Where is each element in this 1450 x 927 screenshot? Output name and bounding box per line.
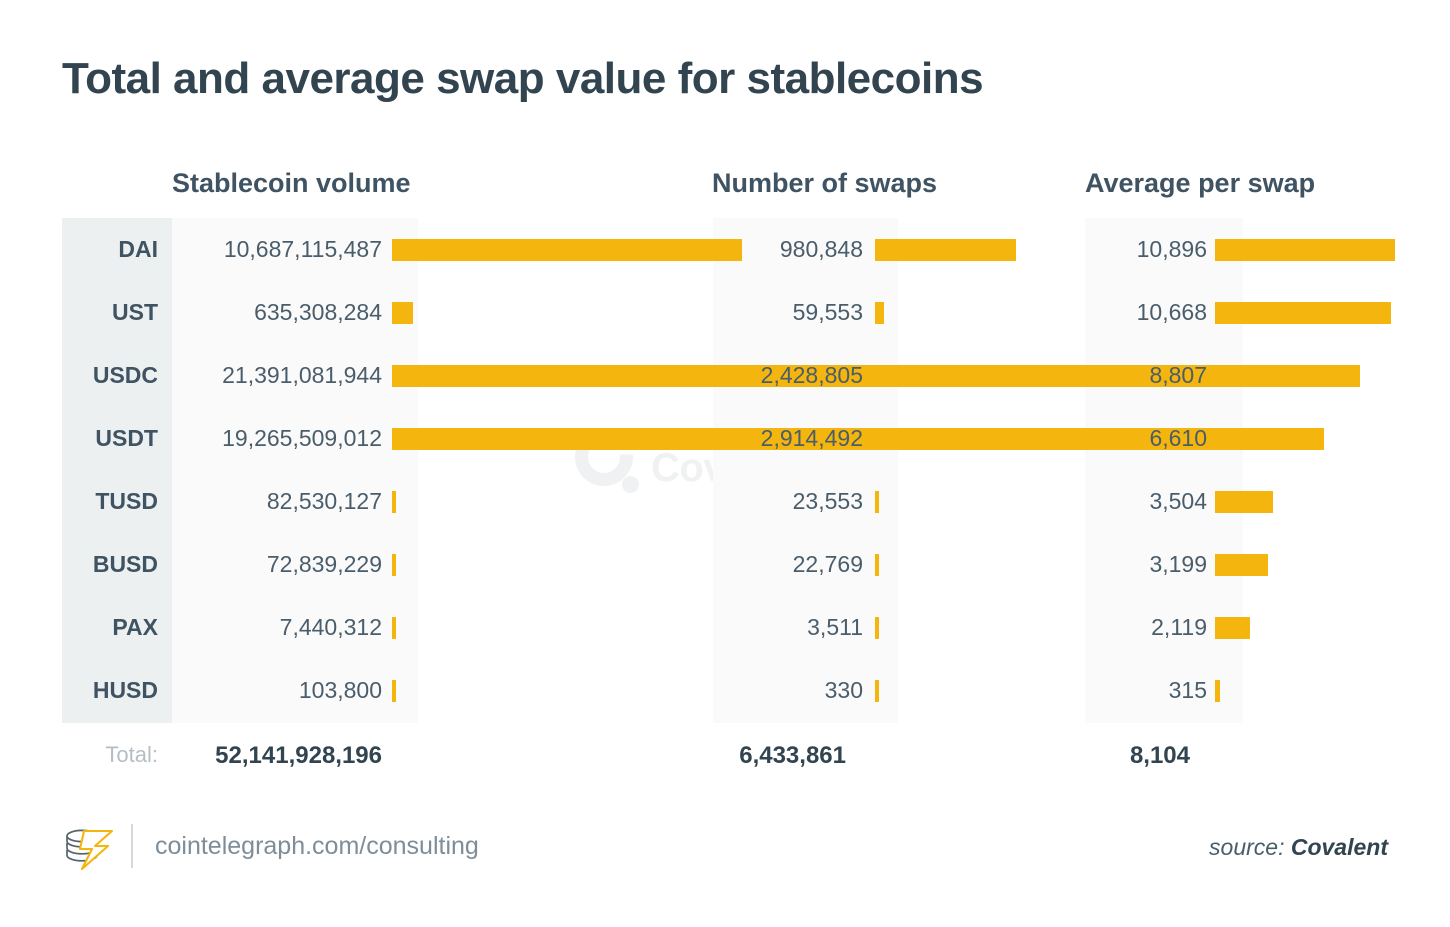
bar-track [1215, 281, 1395, 344]
cell-value: 6,610 [1085, 407, 1207, 470]
cell-value: 3,199 [1085, 533, 1207, 596]
column-header-stablecoin-volume: Stablecoin volume [172, 168, 411, 199]
infographic-root: Total and average swap value for stablec… [0, 0, 1450, 927]
bar-track [1215, 407, 1395, 470]
bar [1215, 491, 1273, 513]
totals-swaps-value: 6,433,861 [713, 742, 846, 770]
bar-track [1215, 533, 1395, 596]
row-group-3: 10,896 [0, 218, 1450, 281]
bar [1215, 302, 1391, 324]
footer-source-value: Covalent [1291, 834, 1388, 860]
bar-track [1215, 659, 1395, 722]
footer-source: source: Covalent [1209, 834, 1388, 861]
bar [1215, 680, 1220, 702]
cointelegraph-logo-icon [62, 824, 120, 872]
footer: cointelegraph.com/consulting source: Cov… [0, 818, 1450, 880]
footer-divider [131, 824, 133, 868]
row-group-3: 8,807 [0, 344, 1450, 407]
row-group-3: 3,199 [0, 533, 1450, 596]
bar [1215, 428, 1324, 450]
cell-value: 8,807 [1085, 344, 1207, 407]
cell-value: 2,119 [1085, 596, 1207, 659]
row-group-3: 3,504 [0, 470, 1450, 533]
totals-volume-value: 52,141,928,196 [172, 742, 382, 770]
table-row: USDT19,265,509,0122,914,4926,610 [0, 407, 1450, 470]
table-row: UST635,308,28459,55310,668 [0, 281, 1450, 344]
page-title: Total and average swap value for stablec… [62, 54, 983, 104]
table-row: DAI10,687,115,487980,84810,896 [0, 218, 1450, 281]
table-row: TUSD82,530,12723,5533,504 [0, 470, 1450, 533]
totals-label: Total: [62, 742, 158, 768]
bar [1215, 365, 1360, 387]
bar-track [1215, 470, 1395, 533]
column-header-number-of-swaps: Number of swaps [712, 168, 937, 199]
bar-track [1215, 344, 1395, 407]
table-row: HUSD103,800330315 [0, 659, 1450, 722]
bar [1215, 617, 1250, 639]
chart-rows: DAI10,687,115,487980,84810,896UST635,308… [0, 218, 1450, 722]
bar [1215, 554, 1268, 576]
table-row: PAX7,440,3123,5112,119 [0, 596, 1450, 659]
table-row: USDC21,391,081,9442,428,8058,807 [0, 344, 1450, 407]
cell-value: 10,896 [1085, 218, 1207, 281]
totals-row: Total: 52,141,928,196 6,433,861 8,104 [0, 742, 1450, 782]
cell-value: 3,504 [1085, 470, 1207, 533]
cell-value: 10,668 [1085, 281, 1207, 344]
cell-value: 315 [1085, 659, 1207, 722]
row-group-3: 2,119 [0, 596, 1450, 659]
table-row: BUSD72,839,22922,7693,199 [0, 533, 1450, 596]
row-group-3: 10,668 [0, 281, 1450, 344]
column-header-average-per-swap: Average per swap [1085, 168, 1315, 199]
footer-website-link[interactable]: cointelegraph.com/consulting [155, 832, 479, 861]
bar-track [1215, 218, 1395, 281]
footer-source-label: source: [1209, 834, 1284, 860]
row-group-3: 315 [0, 659, 1450, 722]
row-group-3: 6,610 [0, 407, 1450, 470]
bar-track [1215, 596, 1395, 659]
bar [1215, 239, 1395, 261]
totals-average-value: 8,104 [1085, 742, 1190, 770]
